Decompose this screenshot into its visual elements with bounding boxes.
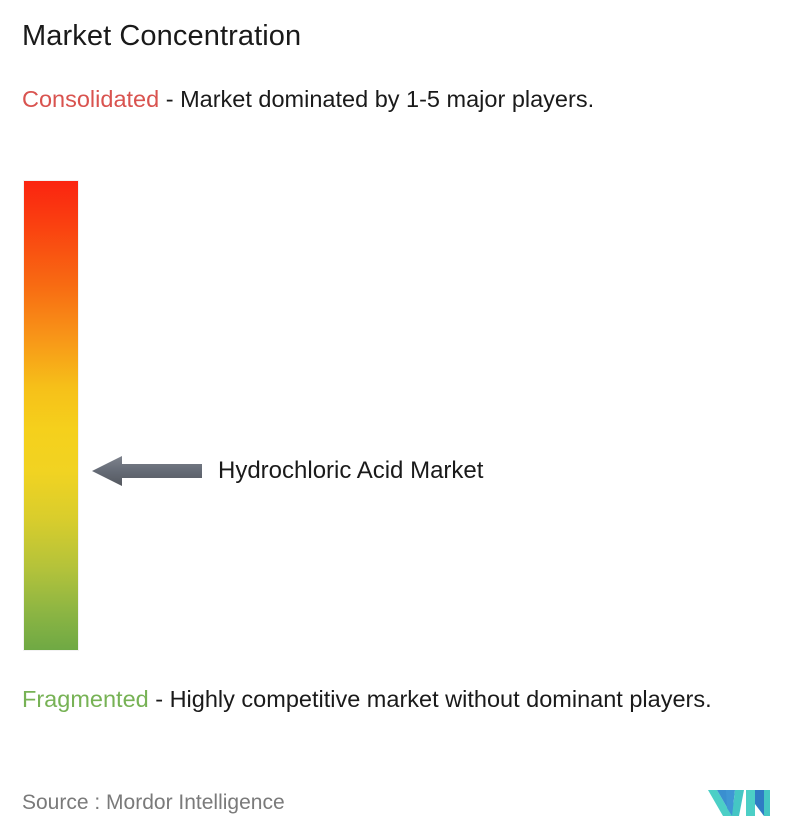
concentration-gradient-scale — [24, 181, 78, 650]
arrow-left-icon — [92, 456, 202, 486]
market-position-label: Hydrochloric Acid Market — [218, 459, 483, 483]
mordor-intelligence-logo-icon — [708, 786, 774, 820]
legend-consolidated-description: - Market dominated by 1-5 major players. — [159, 86, 594, 112]
market-position-marker: Hydrochloric Acid Market — [92, 452, 483, 490]
legend-fragmented: Fragmented - Highly competitive market w… — [22, 684, 784, 715]
legend-consolidated-keyword: Consolidated — [22, 86, 159, 112]
page-title: Market Concentration — [22, 20, 301, 53]
legend-fragmented-keyword: Fragmented — [22, 686, 149, 712]
legend-fragmented-description: - Highly competitive market without domi… — [149, 686, 712, 712]
market-concentration-infographic: Market Concentration Consolidated - Mark… — [0, 0, 796, 834]
legend-consolidated: Consolidated - Market dominated by 1-5 m… — [22, 84, 774, 115]
footer: Source : Mordor Intelligence — [22, 780, 774, 826]
source-attribution: Source : Mordor Intelligence — [22, 791, 285, 815]
